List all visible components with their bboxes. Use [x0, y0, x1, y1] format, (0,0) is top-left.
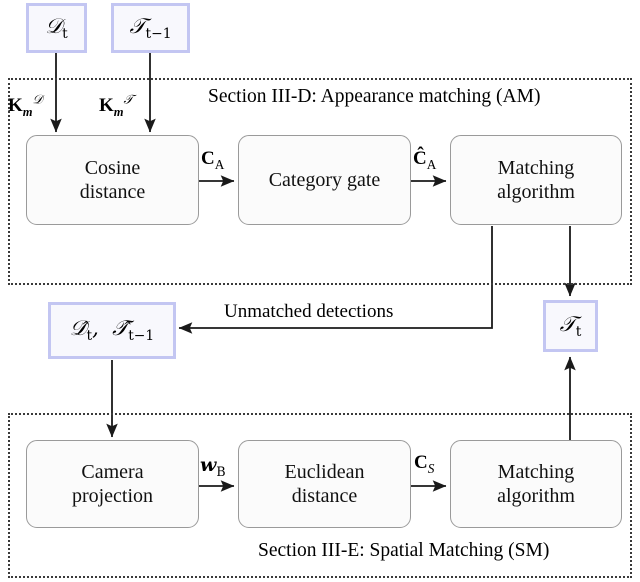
block-cosine-distance-line1: Cosine	[80, 156, 146, 180]
block-matching-algorithm-sm-line2: algorithm	[497, 484, 575, 508]
node-hatted-detections-tracks-label: 𝒟̂t, 𝒯̂t−1	[70, 316, 154, 344]
block-camera-projection-line1: Camera	[72, 460, 153, 484]
block-euclidean-distance-line1: Euclidean	[285, 460, 365, 484]
node-tracks-t-minus-1-label: 𝒯t−1	[129, 14, 171, 42]
block-category-gate[interactable]: Category gate	[238, 135, 411, 225]
edge-label-w-b: wB	[200, 454, 226, 479]
node-hatted-detections-tracks[interactable]: 𝒟̂t, 𝒯̂t−1	[48, 302, 176, 359]
block-camera-projection[interactable]: Camera projection	[26, 440, 199, 528]
block-matching-algorithm-am[interactable]: Matching algorithm	[450, 135, 622, 225]
edge-label-k-m-t: Km𝒯	[99, 92, 133, 120]
edge-label-c-s: CS	[414, 452, 434, 477]
block-matching-algorithm-sm[interactable]: Matching algorithm	[450, 440, 622, 528]
node-tracks-tt-label: 𝒯t	[560, 312, 582, 340]
block-matching-algorithm-sm-line1: Matching	[497, 460, 575, 484]
block-camera-projection-line2: projection	[72, 484, 153, 508]
node-tracks-tt[interactable]: 𝒯t	[543, 300, 598, 352]
node-tracks-t-minus-1[interactable]: 𝒯t−1	[111, 3, 190, 53]
block-category-gate-line1: Category gate	[269, 168, 381, 192]
edge-label-c-a-hat: ĈA	[413, 148, 436, 173]
block-cosine-distance[interactable]: Cosine distance	[26, 135, 199, 225]
diagram-canvas: Section III-D: Appearance matching (AM) …	[0, 0, 640, 582]
block-euclidean-distance[interactable]: Euclidean distance	[238, 440, 411, 528]
node-detections-dt[interactable]: 𝒟t	[26, 3, 87, 53]
block-cosine-distance-line2: distance	[80, 180, 146, 204]
edge-label-k-m-d: Km𝒟	[8, 92, 43, 120]
node-detections-dt-label: 𝒟t	[45, 14, 67, 42]
section-spatial-matching-title: Section III-E: Spatial Matching (SM)	[258, 540, 549, 562]
block-euclidean-distance-line2: distance	[285, 484, 365, 508]
block-matching-algorithm-am-line2: algorithm	[497, 180, 575, 204]
edge-label-c-a: CA	[201, 148, 224, 173]
section-appearance-matching-title: Section III-D: Appearance matching (AM)	[208, 86, 540, 108]
block-matching-algorithm-am-line1: Matching	[497, 156, 575, 180]
edge-label-unmatched-detections: Unmatched detections	[224, 301, 393, 323]
